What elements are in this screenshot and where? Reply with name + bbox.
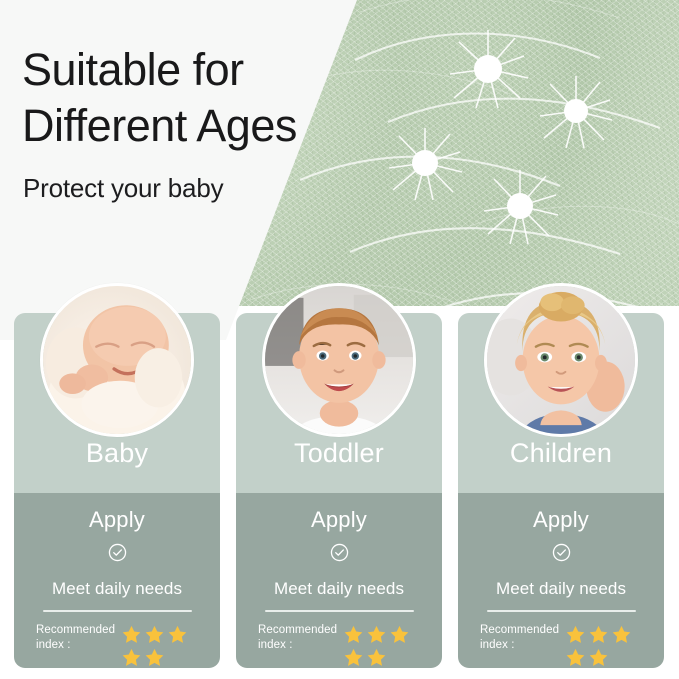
star-icon [144, 624, 165, 645]
star-icon [121, 624, 142, 645]
needs-label-baby: Meet daily needs [52, 579, 182, 599]
rating-row-children: Recommended index : [458, 623, 664, 668]
star-rating-children [565, 623, 637, 668]
apply-label-baby: Apply [89, 507, 145, 533]
avatar-toddler-photo [265, 286, 413, 434]
star-icon [588, 647, 609, 668]
check-circle-icon [551, 542, 572, 568]
star-icon [167, 624, 188, 645]
star-icon [144, 647, 165, 668]
apply-label-toddler: Apply [311, 507, 367, 533]
card-bottom-toddler: Apply Meet daily needs Recommended index… [236, 493, 442, 668]
star-icon [343, 624, 364, 645]
avatar-baby-photo [43, 286, 191, 434]
rating-row-toddler: Recommended index : [236, 623, 442, 668]
card-bottom-baby: Apply Meet daily needs Recommended index… [14, 493, 220, 668]
star-rating-baby [121, 623, 193, 668]
page-title: Suitable for Different Ages [22, 42, 297, 154]
star-icon [588, 624, 609, 645]
card-bottom-children: Apply Meet daily needs Recommended index… [458, 493, 664, 668]
rating-row-baby: Recommended index : [14, 623, 220, 668]
needs-label-toddler: Meet daily needs [274, 579, 404, 599]
page-subtitle: Protect your baby [23, 172, 223, 204]
avatar-children [484, 283, 638, 437]
check-circle-icon [107, 542, 128, 568]
card-title-toddler: Toddler [294, 438, 384, 493]
rating-label-toddler: Recommended index : [258, 623, 337, 653]
star-icon [121, 647, 142, 668]
card-title-children: Children [510, 438, 612, 493]
star-icon [389, 624, 410, 645]
card-divider-baby [43, 610, 192, 612]
check-circle-icon [329, 542, 350, 568]
apply-label-children: Apply [533, 507, 589, 533]
product-infographic: Suitable for Different Ages Protect your… [0, 0, 679, 679]
card-title-baby: Baby [86, 438, 148, 493]
avatar-baby [40, 283, 194, 437]
star-icon [343, 647, 364, 668]
star-icon [565, 647, 586, 668]
needs-label-children: Meet daily needs [496, 579, 626, 599]
avatar-toddler [262, 283, 416, 437]
star-icon [366, 624, 387, 645]
card-divider-children [487, 610, 636, 612]
star-icon [366, 647, 387, 668]
star-rating-toddler [343, 623, 415, 668]
star-icon [565, 624, 586, 645]
rating-label-baby: Recommended index : [36, 623, 115, 653]
rating-label-children: Recommended index : [480, 623, 559, 653]
star-icon [611, 624, 632, 645]
avatar-children-photo [487, 286, 635, 434]
card-divider-toddler [265, 610, 414, 612]
